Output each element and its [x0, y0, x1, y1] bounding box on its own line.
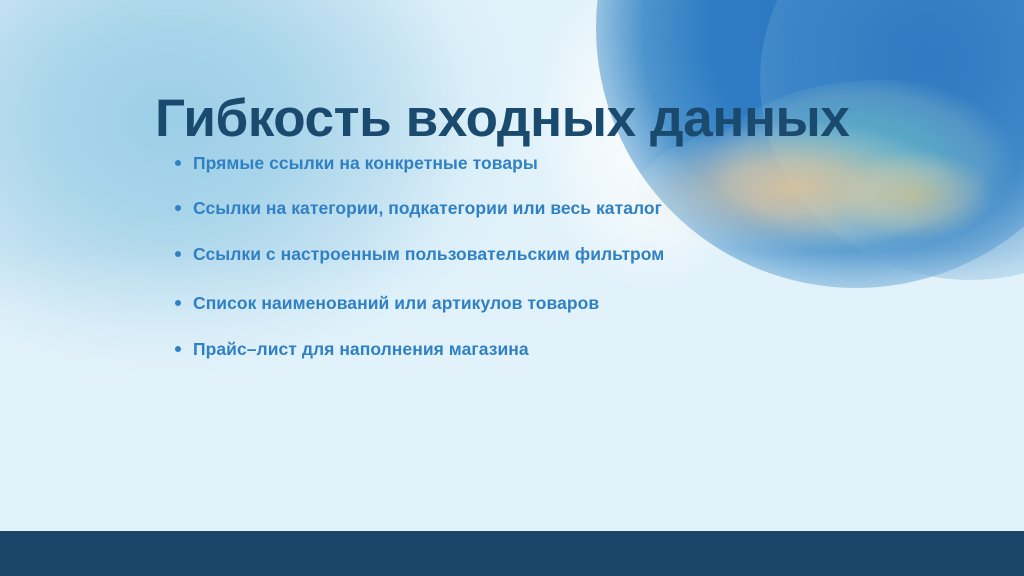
bullet-dot-icon [175, 346, 181, 352]
bullet-item-label: Прайс–лист для наполнения магазина [193, 338, 814, 360]
bullet-item-label: Список наименований или артикулов товаро… [193, 292, 814, 314]
bullet-dot-icon [175, 300, 181, 306]
bullet-item: Ссылки на категории, подкатегории или ве… [174, 197, 814, 219]
bullet-item: Ссылки с настроенным пользовательским фи… [174, 243, 814, 265]
bullet-item-label: Ссылки с настроенным пользовательским фи… [193, 243, 814, 265]
bullet-item-label: Ссылки на категории, подкатегории или ве… [193, 197, 814, 219]
bullet-item: Прямые ссылки на конкретные товары [174, 152, 814, 174]
bullet-dot-icon [175, 251, 181, 257]
slide-title: Гибкость входных данных [155, 90, 850, 147]
bullet-item-label: Прямые ссылки на конкретные товары [193, 152, 814, 174]
bullet-list: Прямые ссылки на конкретные товары Ссылк… [174, 152, 814, 360]
bullet-item: Прайс–лист для наполнения магазина [174, 338, 814, 360]
bullet-dot-icon [175, 160, 181, 166]
footer-bar [0, 531, 1024, 576]
presentation-slide: Гибкость входных данных Прямые ссылки на… [0, 0, 1024, 576]
slide-content: Гибкость входных данных Прямые ссылки на… [0, 0, 1024, 576]
bullet-item: Список наименований или артикулов товаро… [174, 292, 814, 314]
bullet-dot-icon [175, 205, 181, 211]
